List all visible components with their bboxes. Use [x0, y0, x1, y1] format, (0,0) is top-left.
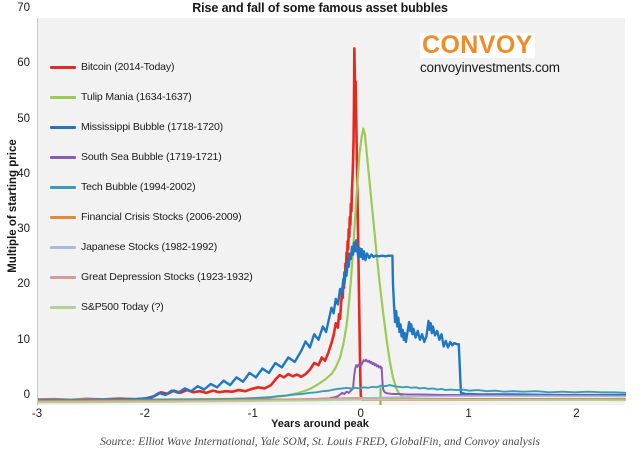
y-tick-60: 60	[0, 57, 30, 69]
legend-label-5: Financial Crisis Stocks (2006-2009)	[81, 211, 241, 223]
y-axis-label: Multiple of starting price	[7, 101, 19, 311]
legend-item-8[interactable]: S&P500 Today (?)	[50, 292, 310, 322]
chart-figure: Rise and fall of some famous asset bubbl…	[0, 0, 640, 459]
source-note: Source: Elliot Wave International, Yale …	[0, 436, 640, 448]
legend-swatch-icon-6	[50, 246, 76, 249]
y-tick-70: 70	[0, 2, 30, 14]
legend-label-8: S&P500 Today (?)	[81, 301, 164, 313]
legend-label-4: Tech Bubble (1994-2002)	[81, 181, 195, 193]
legend-item-7[interactable]: Great Depression Stocks (1923-1932)	[50, 262, 310, 292]
legend-label-1: Tulip Mania (1634-1637)	[81, 91, 192, 103]
legend-item-6[interactable]: Japanese Stocks (1982-1992)	[50, 232, 310, 262]
legend-label-2: Mississippi Bubble (1718-1720)	[81, 121, 223, 133]
legend-item-3[interactable]: South Sea Bubble (1719-1721)	[50, 142, 310, 172]
legend-label-7: Great Depression Stocks (1923-1932)	[81, 271, 253, 283]
brand-name: CONVOY	[420, 33, 535, 58]
legend-item-2[interactable]: Mississippi Bubble (1718-1720)	[50, 112, 310, 142]
legend-swatch-icon-0	[50, 66, 76, 69]
legend-item-0[interactable]: Bitcoin (2014-Today)	[50, 52, 310, 82]
legend-item-4[interactable]: Tech Bubble (1994-2002)	[50, 172, 310, 202]
legend-swatch-icon-5	[50, 216, 76, 219]
legend-swatch-icon-1	[50, 96, 76, 99]
y-tick-0: 0	[0, 389, 30, 401]
legend-swatch-icon-3	[50, 156, 76, 159]
brand-block: CONVOY convoyinvestments.com	[420, 33, 560, 75]
chart-legend: Bitcoin (2014-Today)Tulip Mania (1634-16…	[50, 52, 310, 322]
legend-label-6: Japanese Stocks (1982-1992)	[81, 241, 217, 253]
legend-swatch-icon-2	[50, 126, 76, 129]
legend-item-5[interactable]: Financial Crisis Stocks (2006-2009)	[50, 202, 310, 232]
legend-label-3: South Sea Bubble (1719-1721)	[81, 151, 222, 163]
legend-label-0: Bitcoin (2014-Today)	[81, 61, 174, 73]
chart-title: Rise and fall of some famous asset bubbl…	[0, 1, 640, 15]
brand-url: convoyinvestments.com	[420, 61, 560, 75]
legend-swatch-icon-8	[50, 306, 76, 309]
legend-swatch-icon-7	[50, 276, 76, 279]
x-axis-label: Years around peak	[0, 418, 640, 430]
y-tick-10: 10	[0, 334, 30, 346]
legend-item-1[interactable]: Tulip Mania (1634-1637)	[50, 82, 310, 112]
legend-swatch-icon-4	[50, 186, 76, 189]
